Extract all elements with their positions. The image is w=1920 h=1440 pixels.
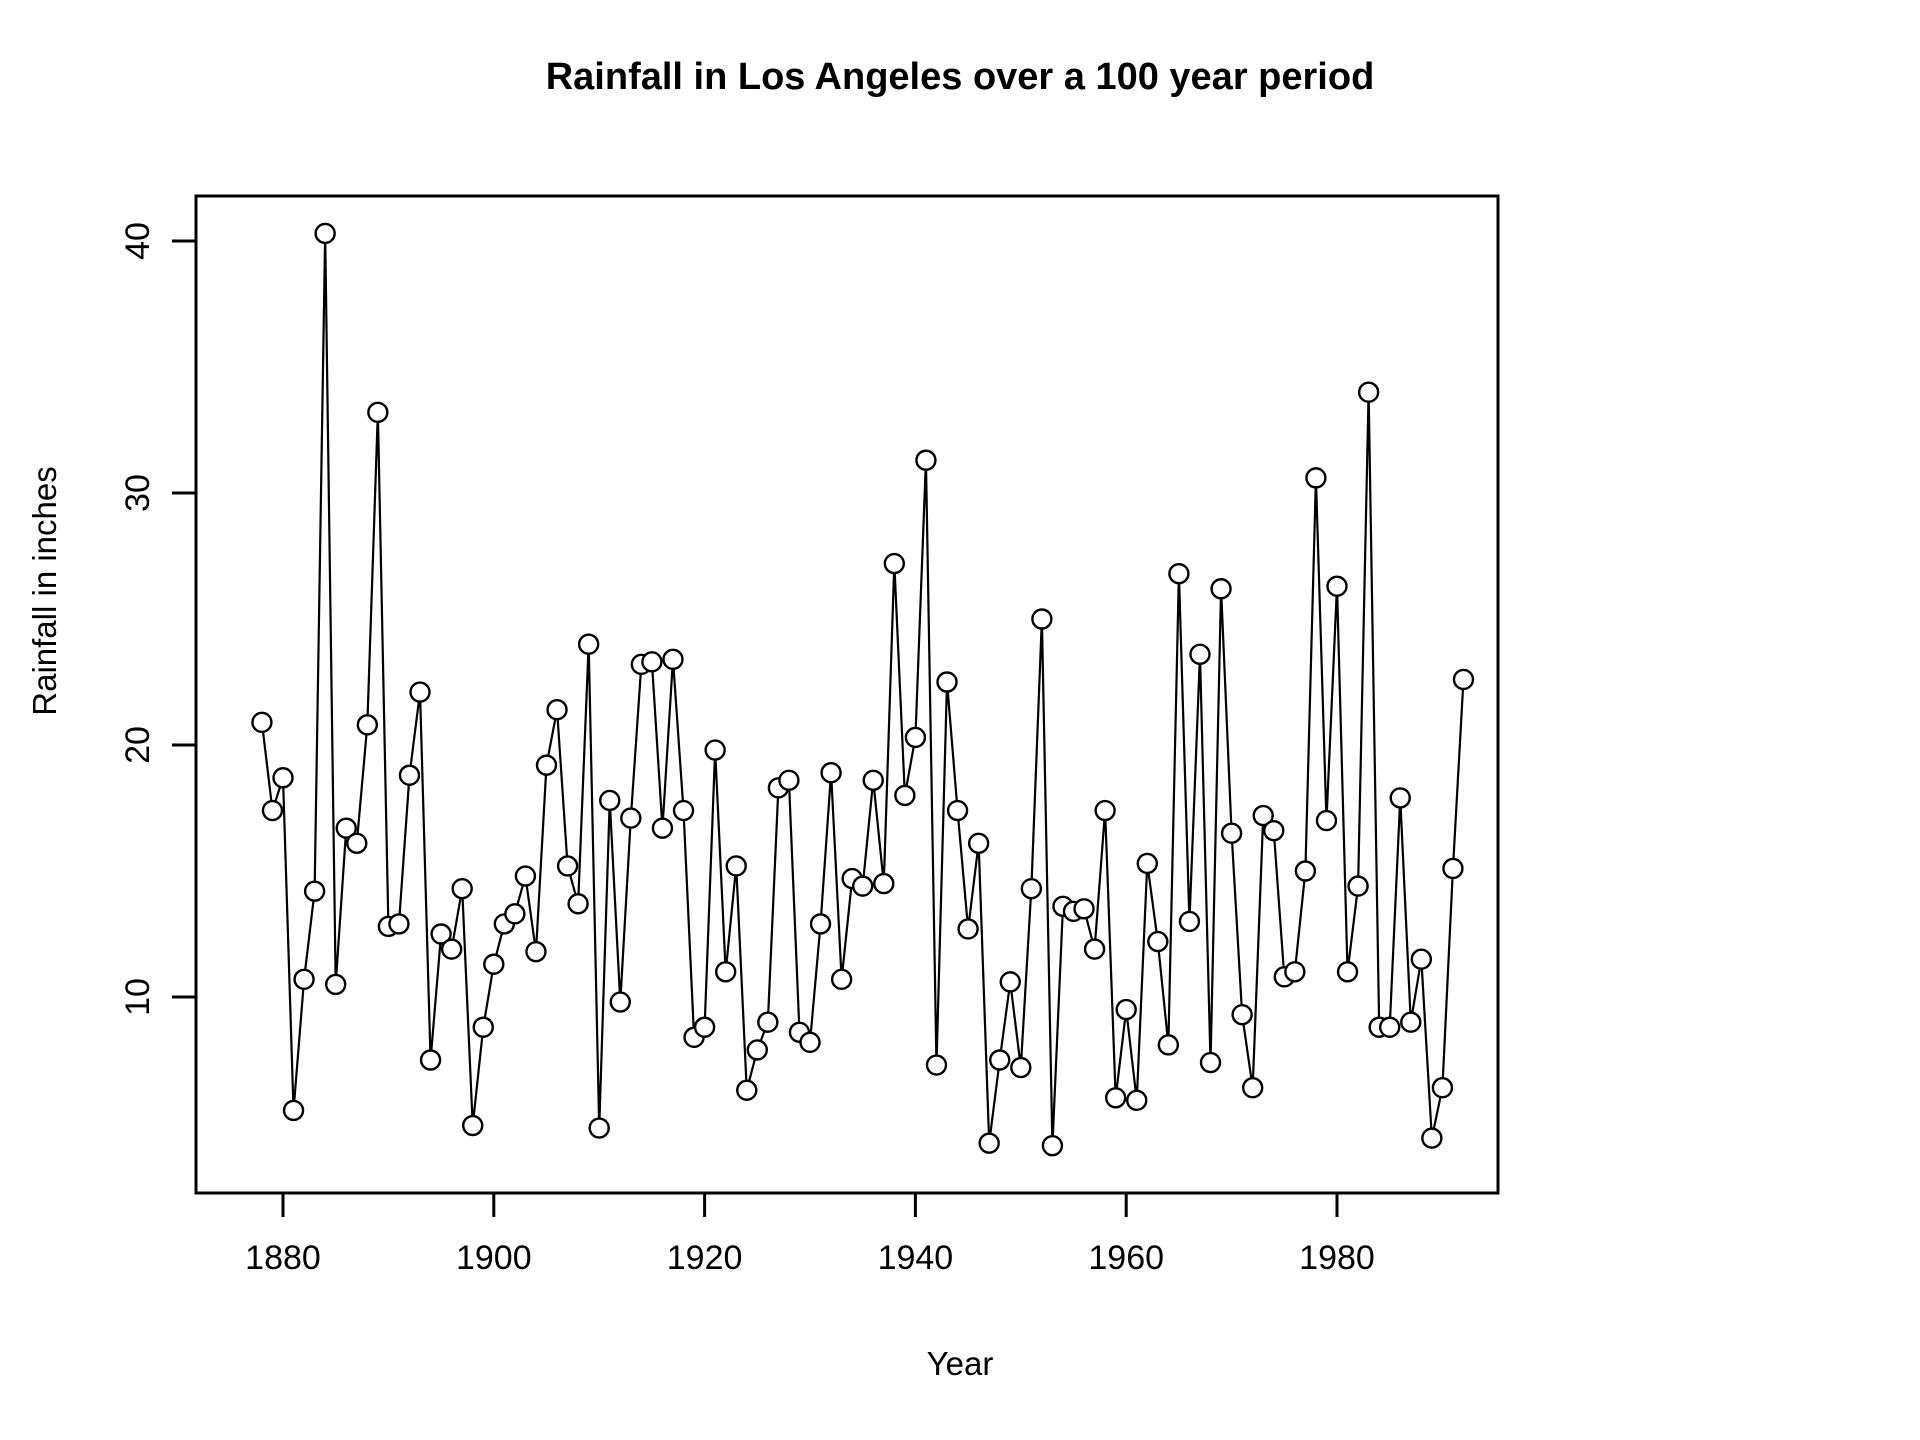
data-point: [864, 771, 883, 790]
x-tick-label: 1980: [1299, 1239, 1375, 1277]
y-tick-label: 10: [119, 978, 157, 1016]
data-point: [916, 451, 935, 470]
y-tick-label: 30: [119, 474, 157, 512]
data-point: [1148, 932, 1167, 951]
data-point: [1391, 788, 1410, 807]
data-point: [980, 1134, 999, 1153]
data-point: [600, 791, 619, 810]
y-tick-label: 40: [119, 222, 157, 260]
data-point: [1285, 962, 1304, 981]
data-point: [389, 914, 408, 933]
data-point: [822, 763, 841, 782]
data-point: [1412, 950, 1431, 969]
data-point: [895, 786, 914, 805]
data-point: [505, 904, 524, 923]
data-point: [305, 882, 324, 901]
x-tick-label: 1960: [1088, 1239, 1164, 1277]
data-point: [1443, 859, 1462, 878]
data-point: [1096, 801, 1115, 820]
data-point: [1085, 940, 1104, 959]
data-point: [653, 819, 672, 838]
data-point: [927, 1056, 946, 1075]
data-point: [853, 877, 872, 896]
data-point: [368, 403, 387, 422]
data-point: [326, 975, 345, 994]
data-point: [811, 914, 830, 933]
data-point: [779, 771, 798, 790]
y-tick-labels: 10203040: [119, 222, 157, 1016]
data-point: [1022, 879, 1041, 898]
data-point: [906, 728, 925, 747]
data-point: [1032, 610, 1051, 629]
data-point: [1180, 912, 1199, 931]
data-point: [969, 834, 988, 853]
data-point: [948, 801, 967, 820]
data-point: [1349, 877, 1368, 896]
data-point: [558, 856, 577, 875]
data-point: [316, 224, 335, 243]
data-point: [621, 809, 640, 828]
data-point: [526, 942, 545, 961]
data-point: [959, 919, 978, 938]
data-point: [674, 801, 693, 820]
x-tick-labels: 188019001920194019601980: [245, 1239, 1375, 1277]
x-tick-label: 1880: [245, 1239, 321, 1277]
data-point: [1075, 899, 1094, 918]
x-tick-label: 1900: [456, 1239, 532, 1277]
data-point: [874, 874, 893, 893]
data-point: [1190, 645, 1209, 664]
data-point: [579, 635, 598, 654]
data-point: [990, 1051, 1009, 1070]
data-point: [1328, 577, 1347, 596]
data-point: [516, 867, 535, 886]
data-point: [1380, 1018, 1399, 1037]
data-point: [1401, 1013, 1420, 1032]
data-point: [1138, 854, 1157, 873]
y-tick-label: 20: [119, 726, 157, 764]
data-point: [1201, 1053, 1220, 1072]
plot-box-frame: [196, 196, 1498, 1193]
data-point: [484, 955, 503, 974]
data-point: [1306, 468, 1325, 487]
data-point: [1001, 972, 1020, 991]
data-point: [706, 741, 725, 760]
data-point: [1011, 1058, 1030, 1077]
data-point: [1043, 1136, 1062, 1155]
data-point: [463, 1116, 482, 1135]
data-point: [1433, 1078, 1452, 1097]
data-series-line: [262, 233, 1464, 1145]
chart-figure: Rainfall in Los Angeles over a 100 year …: [0, 0, 1920, 1440]
data-point: [885, 554, 904, 573]
data-point: [274, 768, 293, 787]
data-point: [1264, 821, 1283, 840]
data-point: [474, 1018, 493, 1037]
x-axis-ticks: [283, 1193, 1337, 1217]
data-point: [1169, 564, 1188, 583]
x-tick-label: 1940: [878, 1239, 954, 1277]
data-point: [1243, 1078, 1262, 1097]
data-point: [453, 879, 472, 898]
data-point: [411, 683, 430, 702]
data-point: [663, 650, 682, 669]
data-point: [1296, 862, 1315, 881]
data-point: [1359, 383, 1378, 402]
data-point: [569, 894, 588, 913]
data-point: [801, 1033, 820, 1052]
data-point: [295, 970, 314, 989]
data-point: [284, 1101, 303, 1120]
data-point: [548, 700, 567, 719]
data-point: [358, 715, 377, 734]
data-point: [263, 801, 282, 820]
data-point: [590, 1119, 609, 1138]
data-point: [537, 756, 556, 775]
data-point: [1317, 811, 1336, 830]
data-point: [1422, 1129, 1441, 1148]
data-point: [642, 652, 661, 671]
data-point: [1222, 824, 1241, 843]
data-point: [716, 962, 735, 981]
data-point: [1117, 1000, 1136, 1019]
data-point: [1212, 579, 1231, 598]
data-point: [400, 766, 419, 785]
data-point: [737, 1081, 756, 1100]
plot-area: 188019001920194019601980 10203040: [0, 0, 1920, 1440]
data-point: [727, 856, 746, 875]
data-series-points: [252, 224, 1473, 1155]
data-point: [748, 1040, 767, 1059]
data-point: [1233, 1005, 1252, 1024]
data-point: [938, 673, 957, 692]
data-point: [832, 970, 851, 989]
data-point: [421, 1051, 440, 1070]
data-point: [442, 940, 461, 959]
data-point: [347, 834, 366, 853]
data-point: [1338, 962, 1357, 981]
data-point: [695, 1018, 714, 1037]
data-point: [1454, 670, 1473, 689]
data-point: [1127, 1091, 1146, 1110]
data-point: [252, 713, 271, 732]
data-point: [758, 1013, 777, 1032]
x-tick-label: 1920: [667, 1239, 743, 1277]
data-point: [611, 993, 630, 1012]
data-point: [1106, 1088, 1125, 1107]
data-point: [1159, 1035, 1178, 1054]
y-axis-ticks: [172, 241, 196, 997]
